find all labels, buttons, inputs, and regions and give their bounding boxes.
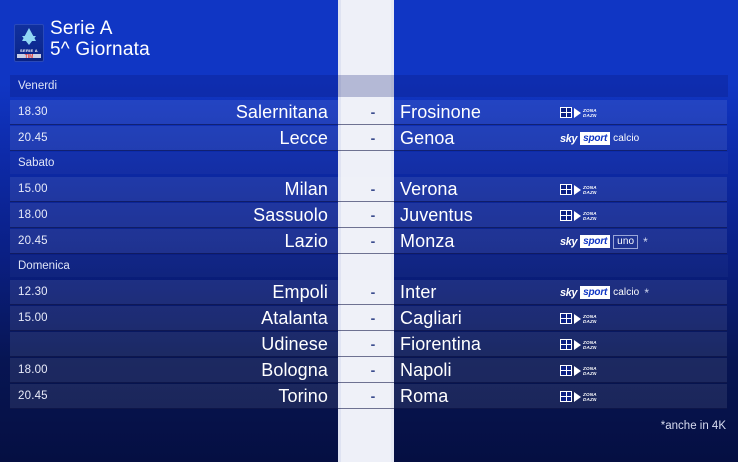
dazn-grid-icon	[560, 339, 572, 350]
dazn-grid-icon	[560, 184, 572, 195]
dazn-wordmark-line2: DAZN	[583, 371, 597, 376]
sky-sport-logo-icon: skysportcalcio	[560, 286, 639, 299]
dazn-wordmark-line2: DAZN	[583, 113, 597, 118]
dazn-arrow-icon	[574, 392, 581, 402]
sky-sport-logo-icon: skysportcalcio	[560, 132, 639, 145]
logo-serie-a-text: SERIE A	[15, 48, 43, 53]
logo-tim-text: TIM	[15, 54, 43, 60]
home-team-name: Salernitana	[10, 100, 328, 125]
dazn-wordmark-line1: ZONA	[583, 211, 597, 216]
fixture-row[interactable]: 18.30Salernitana-FrosinoneZONADAZN	[10, 100, 727, 125]
uhd-asterisk: *	[643, 236, 648, 248]
sky-wordmark: sky	[560, 236, 577, 248]
versus-separator: -	[350, 332, 396, 357]
broadcaster-cell: ZONADAZN	[560, 384, 597, 409]
dazn-grid-cell	[561, 340, 566, 344]
dazn-grid-cell	[567, 397, 572, 401]
fixture-row[interactable]: 15.00Milan-VeronaZONADAZN	[10, 177, 727, 202]
dazn-arrow-icon	[574, 366, 581, 376]
away-team-name: Juventus	[400, 203, 473, 228]
home-team-name: Udinese	[10, 332, 328, 357]
serie-a-tim-logo-icon: SERIE A TIM	[14, 24, 44, 62]
home-team-name: Lecce	[10, 126, 328, 151]
dazn-grid-cell	[567, 319, 572, 323]
broadcaster-cell: skysportcalcio*	[560, 280, 649, 305]
broadcaster-cell: ZONADAZN	[560, 306, 597, 331]
sky-channel-name: calcio	[613, 133, 639, 144]
fixture-row[interactable]: 20.45Lazio-Monzaskysportuno*	[10, 229, 727, 254]
away-team-name: Fiorentina	[400, 332, 481, 357]
dazn-grid-cell	[567, 190, 572, 194]
away-team-name: Roma	[400, 384, 448, 409]
dazn-grid-icon	[560, 365, 572, 376]
dazn-wordmark-line2: DAZN	[583, 345, 597, 350]
logo-crest-bottom	[22, 36, 36, 45]
away-team-name: Frosinone	[400, 100, 481, 125]
header: SERIE A TIM Serie A 5^ Giornata	[0, 0, 338, 72]
dazn-wordmark: ZONADAZN	[583, 366, 597, 376]
dazn-grid-cell	[561, 366, 566, 370]
dazn-grid-cell	[567, 371, 572, 375]
dazn-grid-cell	[567, 392, 572, 396]
home-team-name: Lazio	[10, 229, 328, 254]
dazn-wordmark-line1: ZONA	[583, 185, 597, 190]
dazn-grid-cell	[567, 216, 572, 220]
dazn-wordmark-line2: DAZN	[583, 319, 597, 324]
broadcaster-cell: skysportuno*	[560, 229, 648, 254]
title-matchday: 5^ Giornata	[50, 39, 150, 60]
sport-wordmark: sport	[580, 235, 610, 248]
fixture-row[interactable]: 12.30Empoli-Interskysportcalcio*	[10, 280, 727, 305]
broadcaster-cell: ZONADAZN	[560, 203, 597, 228]
fixture-row[interactable]: 20.45Lecce-Genoaskysportcalcio	[10, 126, 727, 151]
dazn-grid-icon	[560, 107, 572, 118]
dazn-wordmark: ZONADAZN	[583, 392, 597, 402]
dazn-grid-cell	[561, 345, 566, 349]
fixture-row[interactable]: Udinese-FiorentinaZONADAZN	[10, 332, 727, 357]
dazn-grid-icon	[560, 391, 572, 402]
uhd-asterisk: *	[644, 287, 649, 299]
dazn-grid-cell	[567, 211, 572, 215]
away-team-name: Verona	[400, 177, 458, 202]
versus-separator: -	[350, 306, 396, 331]
dazn-wordmark: ZONADAZN	[583, 185, 597, 195]
broadcaster-cell: ZONADAZN	[560, 177, 597, 202]
zona-dazn-logo-icon: ZONADAZN	[560, 339, 597, 351]
day-header-domenica: Domenica	[10, 255, 728, 277]
dazn-grid-cell	[561, 314, 566, 318]
dazn-wordmark-line2: DAZN	[583, 190, 597, 195]
fixtures-graphic: SERIE A TIM Serie A 5^ Giornata Venerdi1…	[0, 0, 738, 462]
home-team-name: Milan	[10, 177, 328, 202]
dazn-grid-cell	[561, 185, 566, 189]
dazn-grid-cell	[561, 397, 566, 401]
home-team-name: Bologna	[10, 358, 328, 383]
dazn-wordmark-line1: ZONA	[583, 366, 597, 371]
home-team-name: Torino	[10, 384, 328, 409]
page-title: Serie A 5^ Giornata	[50, 18, 150, 60]
dazn-wordmark-line1: ZONA	[583, 108, 597, 113]
dazn-arrow-icon	[574, 108, 581, 118]
zona-dazn-logo-icon: ZONADAZN	[560, 313, 597, 325]
dazn-grid-cell	[561, 216, 566, 220]
versus-separator: -	[350, 177, 396, 202]
versus-separator: -	[350, 100, 396, 125]
dazn-grid-cell	[567, 340, 572, 344]
away-team-name: Inter	[400, 280, 437, 305]
zona-dazn-logo-icon: ZONADAZN	[560, 184, 597, 196]
dazn-wordmark: ZONADAZN	[583, 314, 597, 324]
versus-separator: -	[350, 358, 396, 383]
dazn-grid-cell	[561, 113, 566, 117]
title-competition: Serie A	[50, 18, 150, 39]
day-header-venerdi: Venerdi	[10, 75, 728, 97]
home-team-name: Atalanta	[10, 306, 328, 331]
broadcaster-cell: ZONADAZN	[560, 100, 597, 125]
sky-wordmark: sky	[560, 287, 577, 299]
dazn-arrow-icon	[574, 340, 581, 350]
away-team-name: Cagliari	[400, 306, 462, 331]
dazn-grid-cell	[567, 108, 572, 112]
dazn-grid-cell	[561, 392, 566, 396]
dazn-grid-cell	[561, 371, 566, 375]
dazn-wordmark-line1: ZONA	[583, 392, 597, 397]
dazn-wordmark: ZONADAZN	[583, 108, 597, 118]
dazn-arrow-icon	[574, 211, 581, 221]
versus-separator: -	[350, 229, 396, 254]
fixture-row[interactable]: 18.00Bologna-NapoliZONADAZN	[10, 358, 727, 383]
dazn-grid-cell	[561, 319, 566, 323]
dazn-grid-icon	[560, 210, 572, 221]
dazn-grid-cell	[567, 366, 572, 370]
sport-wordmark: sport	[580, 286, 610, 299]
away-team-name: Genoa	[400, 126, 455, 151]
dazn-grid-cell	[561, 190, 566, 194]
fixture-row[interactable]: 18.00Sassuolo-JuventusZONADAZN	[10, 203, 727, 228]
zona-dazn-logo-icon: ZONADAZN	[560, 391, 597, 403]
sky-channel-name: calcio	[613, 287, 639, 298]
dazn-wordmark-line1: ZONA	[583, 340, 597, 345]
zona-dazn-logo-icon: ZONADAZN	[560, 210, 597, 222]
broadcaster-cell: ZONADAZN	[560, 332, 597, 357]
sky-sport-logo-icon: skysportuno	[560, 235, 638, 248]
dazn-grid-cell	[567, 345, 572, 349]
dazn-grid-cell	[561, 211, 566, 215]
dazn-grid-cell	[567, 185, 572, 189]
dazn-grid-cell	[561, 108, 566, 112]
sky-wordmark: sky	[560, 133, 577, 145]
footnote-4k: *anche in 4K	[661, 420, 726, 432]
dazn-grid-icon	[560, 313, 572, 324]
away-team-name: Monza	[400, 229, 455, 254]
day-header-sabato: Sabato	[10, 152, 728, 174]
broadcaster-cell: ZONADAZN	[560, 358, 597, 383]
dazn-wordmark: ZONADAZN	[583, 340, 597, 350]
broadcaster-cell: skysportcalcio	[560, 126, 639, 151]
zona-dazn-logo-icon: ZONADAZN	[560, 107, 597, 119]
dazn-wordmark: ZONADAZN	[583, 211, 597, 221]
dazn-grid-cell	[567, 113, 572, 117]
dazn-wordmark-line2: DAZN	[583, 397, 597, 402]
dazn-grid-cell	[567, 314, 572, 318]
dazn-wordmark-line2: DAZN	[583, 216, 597, 221]
fixture-row[interactable]: 20.45Torino-RomaZONADAZN	[10, 384, 727, 409]
versus-separator: -	[350, 280, 396, 305]
dazn-arrow-icon	[574, 314, 581, 324]
dazn-arrow-icon	[574, 185, 581, 195]
fixture-row[interactable]: 15.00Atalanta-CagliariZONADAZN	[10, 306, 727, 331]
dazn-wordmark-line1: ZONA	[583, 314, 597, 319]
versus-separator: -	[350, 384, 396, 409]
versus-separator: -	[350, 126, 396, 151]
sky-channel-name: uno	[613, 235, 638, 249]
away-team-name: Napoli	[400, 358, 452, 383]
home-team-name: Sassuolo	[10, 203, 328, 228]
sport-wordmark: sport	[580, 132, 610, 145]
zona-dazn-logo-icon: ZONADAZN	[560, 365, 597, 377]
versus-separator: -	[350, 203, 396, 228]
home-team-name: Empoli	[10, 280, 328, 305]
